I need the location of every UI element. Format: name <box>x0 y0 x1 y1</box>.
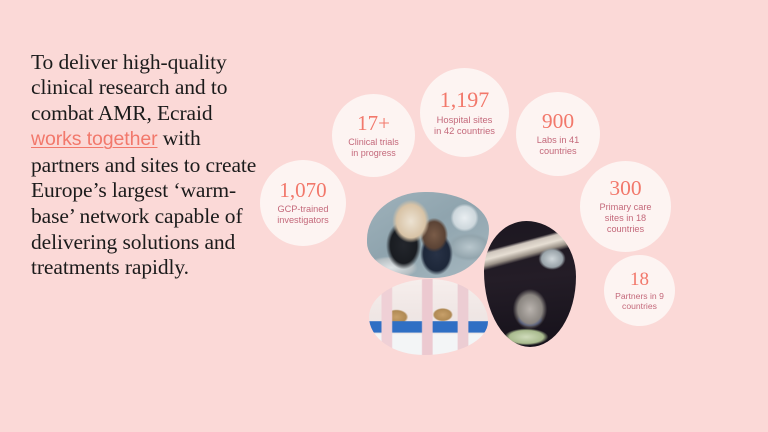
infographic-slide: To deliver high-quality clinical researc… <box>0 0 768 432</box>
stat-bubble-trials[interactable]: 17+ Clinical trials in progress <box>332 94 415 177</box>
stat-number-partners: 18 <box>630 270 649 289</box>
photo-hospital-ward <box>369 279 488 355</box>
stat-label-partners: Partners in 9 countries <box>615 291 664 311</box>
stat-bubble-primary-care[interactable]: 300 Primary care sites in 18 countries <box>580 161 671 252</box>
works-together-link[interactable]: works together <box>31 128 158 150</box>
stat-label-trials: Clinical trials in progress <box>348 137 399 158</box>
photo-clinicians <box>367 192 489 278</box>
stat-bubble-hospital-sites[interactable]: 1,197 Hospital sites in 42 countries <box>420 68 509 157</box>
stat-number-hospital-sites: 1,197 <box>440 89 490 111</box>
stat-number-labs: 900 <box>542 111 574 133</box>
stat-bubble-partners[interactable]: 18 Partners in 9 countries <box>604 255 675 326</box>
stat-label-investigators: GCP-trained investigators <box>277 204 329 226</box>
headline-text-part-one: To deliver high-quality clinical researc… <box>31 50 227 125</box>
headline-paragraph: To deliver high-quality clinical researc… <box>31 50 263 281</box>
stat-label-primary-care: Primary care sites in 18 countries <box>599 202 651 235</box>
stat-number-primary-care: 300 <box>609 178 641 200</box>
stat-bubble-investigators[interactable]: 1,070 GCP-trained investigators <box>260 160 346 246</box>
photo-vial-syringe <box>484 221 576 347</box>
stat-number-investigators: 1,070 <box>279 180 326 201</box>
stat-label-labs: Labs in 41 countries <box>537 135 579 157</box>
stat-number-trials: 17+ <box>357 113 390 134</box>
stat-label-hospital-sites: Hospital sites in 42 countries <box>434 114 495 136</box>
stat-bubble-labs[interactable]: 900 Labs in 41 countries <box>516 92 600 176</box>
